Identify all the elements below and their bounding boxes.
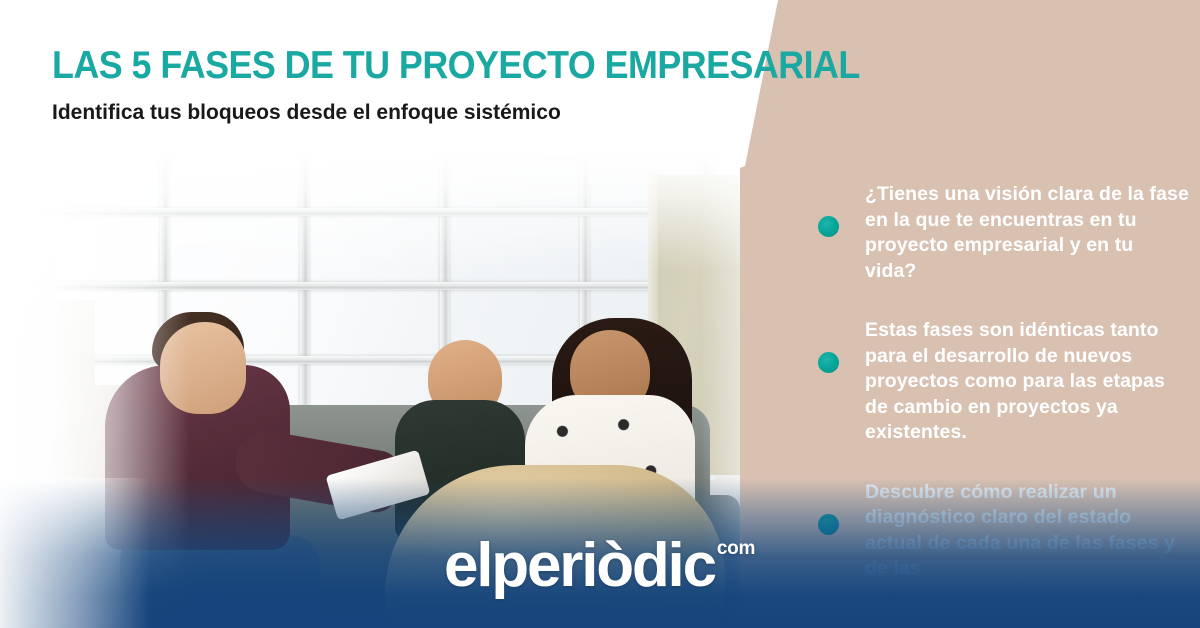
- logo-wordmark: elperiòdic: [444, 535, 715, 597]
- list-item: Estas fases son idénticas tanto para el …: [818, 318, 1190, 446]
- bullet-text: Estas fases son idénticas tanto para el …: [865, 318, 1190, 446]
- page-subtitle: Identifica tus bloqueos desde el enfoque…: [52, 99, 561, 127]
- bullet-dot-icon: [818, 216, 839, 237]
- bullet-dot-icon: [818, 352, 839, 373]
- logo-com-suffix: com: [717, 539, 755, 558]
- photo-left-fade: [0, 150, 190, 628]
- page-title: LAS 5 FASES DE TU PROYECTO EMPRESARIAL: [52, 44, 860, 88]
- bullet-text: Descubre cómo realizar un diagnóstico cl…: [865, 480, 1190, 582]
- bullet-text: ¿Tienes una visión clara de la fase en l…: [865, 182, 1190, 284]
- bullet-dot-icon: [818, 514, 839, 535]
- promo-banner: LAS 5 FASES DE TU PROYECTO EMPRESARIAL I…: [0, 0, 1200, 628]
- list-item: ¿Tienes una visión clara de la fase en l…: [818, 182, 1190, 284]
- list-item: Descubre cómo realizar un diagnóstico cl…: [818, 480, 1190, 582]
- elperiodic-logo[interactable]: elperiòdic com: [444, 535, 755, 597]
- bullet-list: ¿Tienes una visión clara de la fase en l…: [818, 182, 1190, 616]
